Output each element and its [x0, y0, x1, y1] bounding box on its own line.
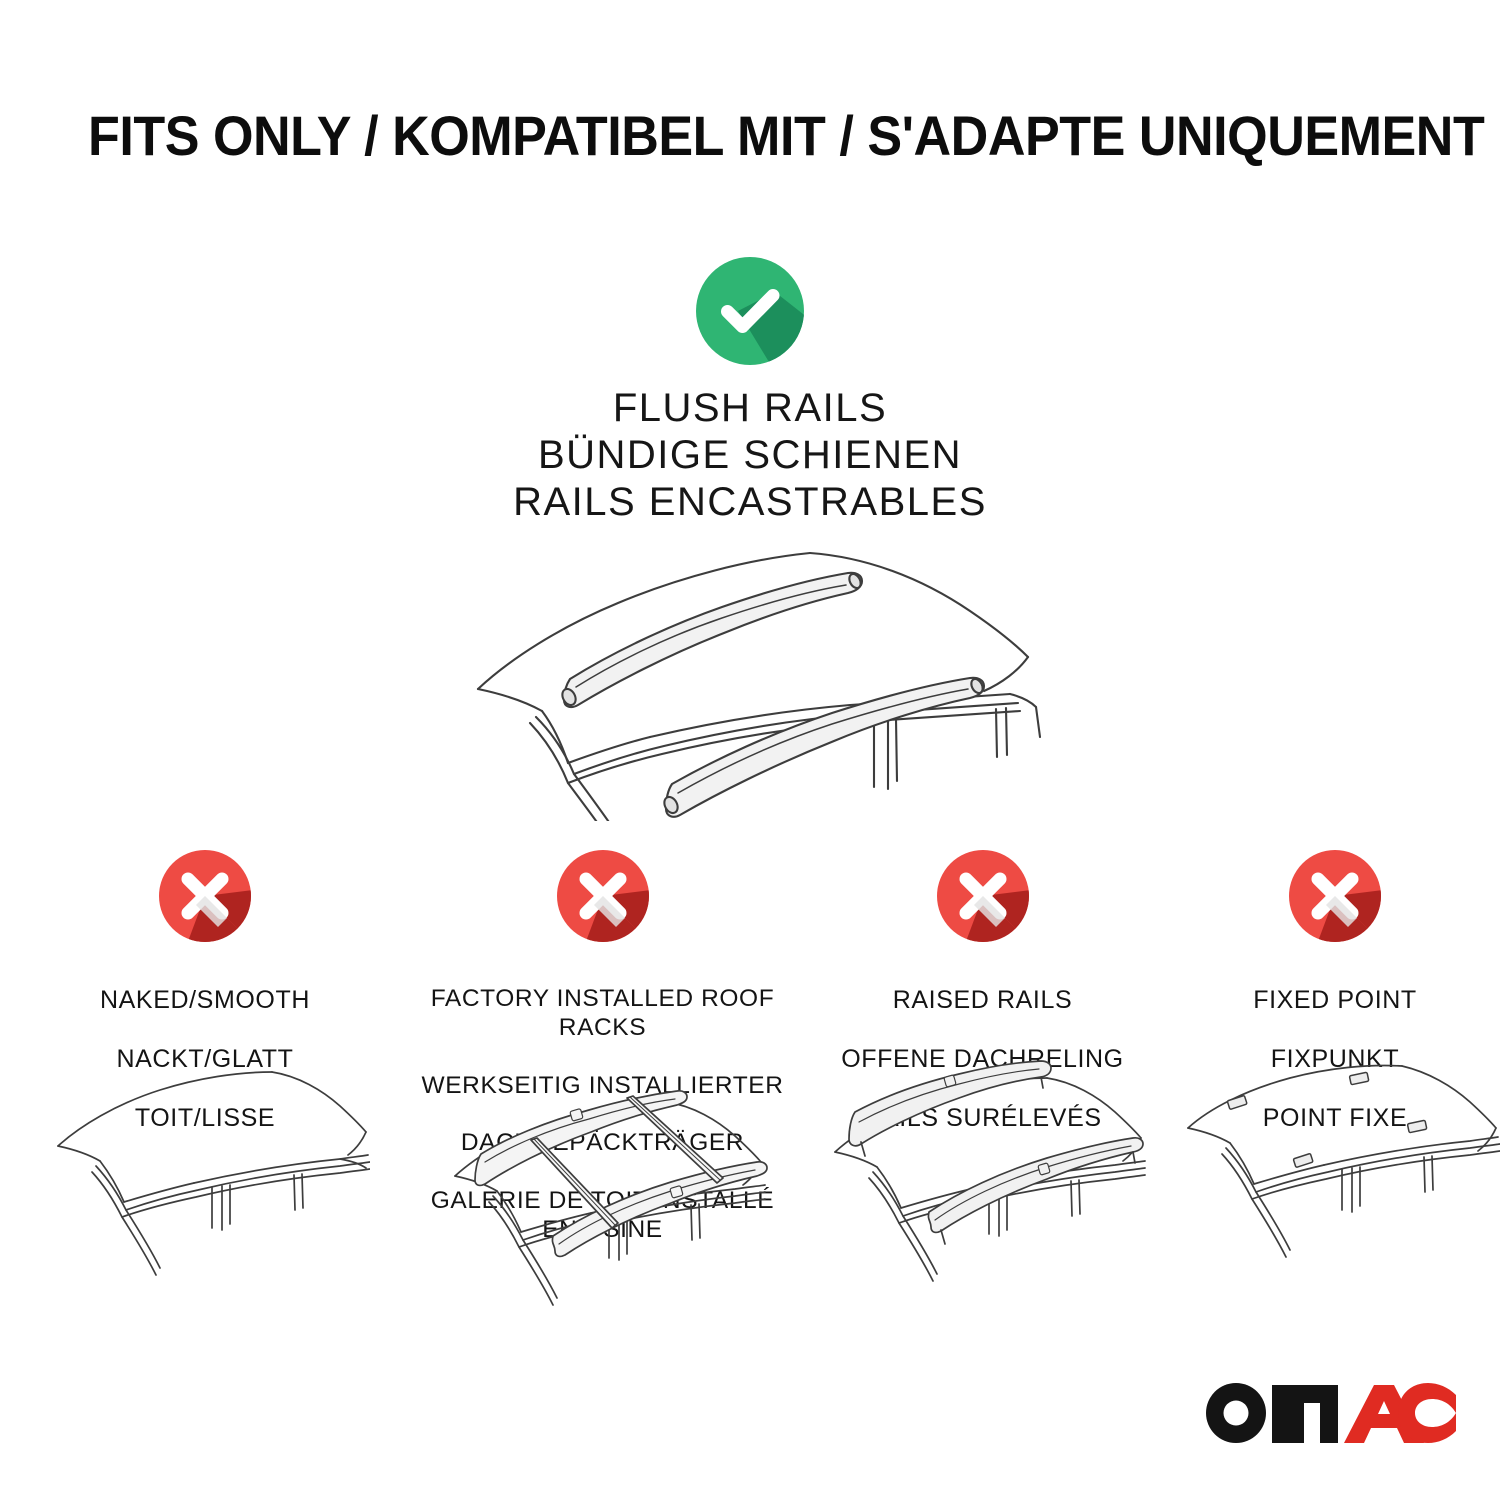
illustration-wrap [0, 1060, 410, 1290]
infographic-page: FITS ONLY / KOMPATIBEL MIT / S'ADAPTE UN… [0, 0, 1500, 1500]
cross-circle-icon [555, 848, 651, 944]
incompatible-section: NAKED/SMOOTH NACKT/GLATT TOIT/LISSE [0, 848, 1500, 1274]
incompatible-item-raised-rails: RAISED RAILS OFFENE DACHRELING RAILS SUR… [795, 848, 1170, 1163]
omac-logo [1198, 1373, 1458, 1454]
compatible-label-line-en: FLUSH RAILS [0, 385, 1500, 432]
omac-logo-mark [1198, 1373, 1458, 1449]
check-circle-icon [694, 255, 806, 367]
page-title: FITS ONLY / KOMPATIBEL MIT / S'ADAPTE UN… [88, 108, 1325, 164]
car-roof-raised-rails-illustration [813, 1060, 1153, 1290]
cross-circle-icon [157, 848, 253, 944]
incompatible-item-fixed-point: FIXED POINT FIXPUNKT POINT FIXE [1170, 848, 1500, 1163]
label-line-en: NAKED/SMOOTH [0, 986, 410, 1016]
logo-letter-m [1272, 1385, 1338, 1443]
illustration-wrap [410, 1088, 795, 1318]
logo-letter-o [1206, 1383, 1266, 1443]
car-roof-flush-rails-illustration [450, 531, 1050, 821]
cross-circle-icon [935, 848, 1031, 944]
label-line-en: RAISED RAILS [795, 986, 1170, 1016]
car-roof-fixed-point-illustration [1170, 1060, 1500, 1290]
illustration-wrap [795, 1060, 1170, 1290]
compatible-label-line-de: BÜNDIGE SCHIENEN [0, 432, 1500, 479]
cross-circle-icon [1287, 848, 1383, 944]
car-roof-naked-smooth-illustration [40, 1060, 370, 1290]
illustration-wrap [1170, 1060, 1500, 1290]
incompatible-item-factory-roof-racks: FACTORY INSTALLED ROOF RACKS WERKSEITIG … [410, 848, 795, 1274]
label-line-en: FACTORY INSTALLED ROOF RACKS [410, 985, 795, 1043]
incompatible-item-naked-smooth: NAKED/SMOOTH NACKT/GLATT TOIT/LISSE [0, 848, 410, 1163]
label-line-en: FIXED POINT [1170, 986, 1500, 1016]
compatible-section: FLUSH RAILS BÜNDIGE SCHIENEN RAILS ENCAS… [0, 255, 1500, 821]
car-roof-factory-roof-racks-illustration [433, 1088, 773, 1318]
compatible-label: FLUSH RAILS BÜNDIGE SCHIENEN RAILS ENCAS… [0, 385, 1500, 525]
compatible-label-line-fr: RAILS ENCASTRABLES [0, 479, 1500, 526]
logo-letter-c [1398, 1383, 1456, 1443]
